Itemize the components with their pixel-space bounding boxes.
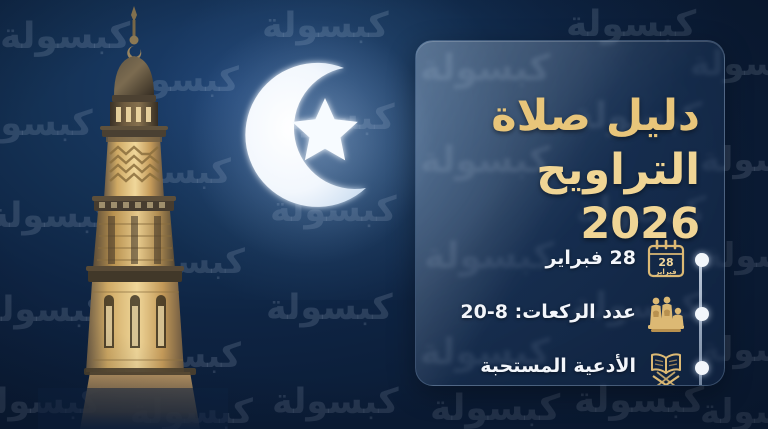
poster-canvas: كبسولةكبسولةكبسولةكبسولةكبسولةكبسولةكبسو… bbox=[0, 0, 768, 429]
praying-people-icon bbox=[644, 292, 688, 336]
list-item-label: الأدعية المستحبة bbox=[436, 355, 636, 377]
page-title: دليل صلاة التراويح 2026 bbox=[416, 89, 700, 252]
crescent-moon-and-star bbox=[226, 56, 396, 224]
crescent-moon-icon bbox=[245, 63, 366, 207]
five-pointed-star-icon bbox=[292, 98, 358, 160]
list-item[interactable]: عدد الركعات: 8-20 bbox=[432, 291, 706, 337]
info-card: دليل صلاة التراويح 2026 28 فبراير 28 bbox=[415, 40, 725, 386]
timeline: 28 فبراير 28 فبراير bbox=[432, 237, 706, 386]
title-line-2: التراويح 2026 bbox=[416, 143, 700, 251]
timeline-dot bbox=[695, 307, 709, 321]
list-item-label: عدد الركعات: 8-20 bbox=[436, 301, 636, 323]
list-item[interactable]: الأدعية المستحبة bbox=[432, 345, 706, 386]
open-quran-icon bbox=[644, 346, 688, 386]
title-line-1: دليل صلاة bbox=[416, 89, 700, 143]
calendar-month: فبراير bbox=[654, 268, 677, 276]
timeline-dot bbox=[695, 361, 709, 375]
calendar-icon: 28 فبراير bbox=[644, 238, 688, 282]
list-item-label: 28 فبراير bbox=[436, 247, 636, 269]
timeline-dot bbox=[695, 253, 709, 267]
list-item[interactable]: 28 فبراير 28 فبراير bbox=[432, 237, 706, 283]
